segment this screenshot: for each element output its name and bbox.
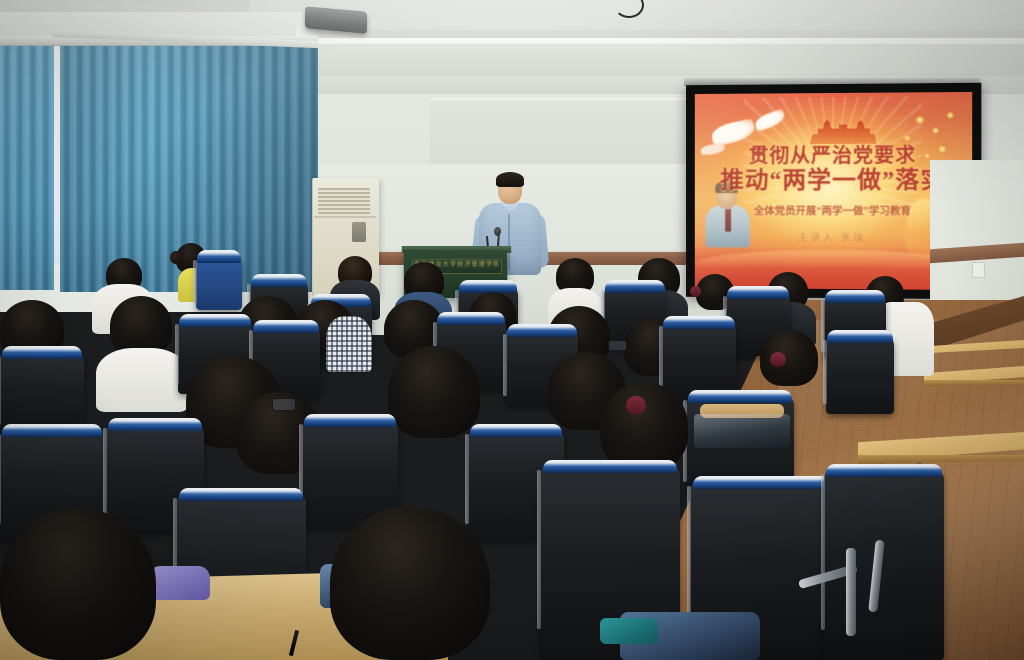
attendee-glasses [608,340,627,351]
sparkle-icon [947,112,954,119]
attendee-body [326,316,372,372]
speaker-shirt-placket [508,214,510,270]
chair[interactable] [824,470,944,660]
chair[interactable] [826,336,894,414]
speaker-hair [496,172,524,187]
chair[interactable] [662,322,736,400]
outlet-icon[interactable] [972,262,985,278]
chair-plastic-cover [694,414,790,448]
attendee-hair-bun [170,251,182,264]
air-conditioner-grille [318,188,370,214]
attendee-head [330,506,490,660]
air-conditioner-control-panel[interactable] [352,222,366,242]
air-conditioner-seam [314,216,376,218]
attendee-hair-tie [770,352,786,367]
attendee-head [388,346,480,438]
attendee-hair-tie [626,396,646,415]
sparkle-icon [904,136,910,141]
personal-item[interactable] [600,618,658,644]
attendee-glasses [272,398,296,411]
chair[interactable] [196,256,242,310]
attendee-head [760,330,818,386]
sparkle-icon [916,116,924,124]
attendee-hair-tie [690,286,701,297]
attendee-head [110,296,172,356]
sparkle-icon [933,128,939,134]
curtain-left-panel[interactable] [0,40,54,290]
attendee-head [600,382,688,470]
chair-leg [846,548,856,636]
microphone-head [494,227,501,236]
attendee-head [0,508,156,660]
personal-item[interactable] [150,566,210,600]
ceiling-beam [258,44,1024,80]
lecture-hall-photo: 贯彻从严治党要求 推动“两学一做”落实 全体党员开展“两学一做”学习教育 主讲人… [0,0,1024,660]
